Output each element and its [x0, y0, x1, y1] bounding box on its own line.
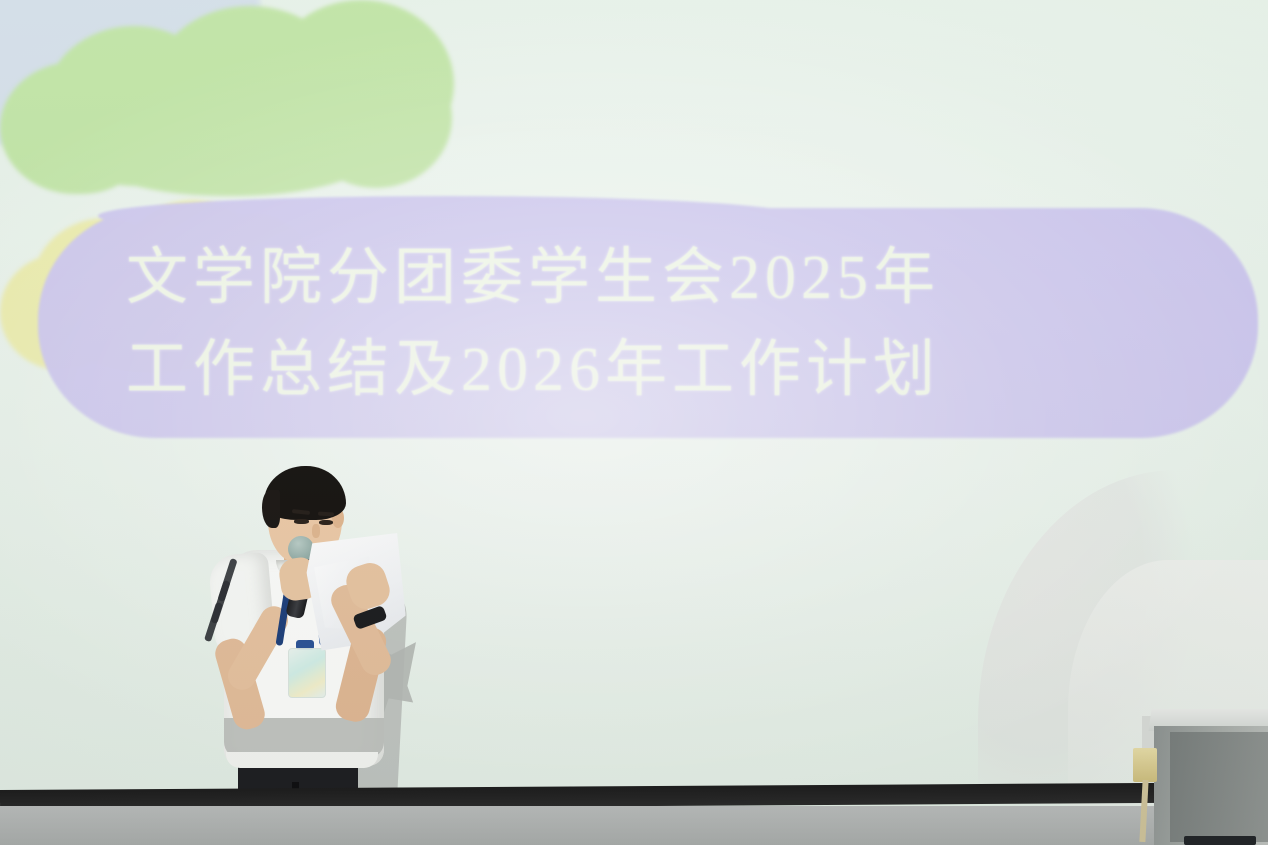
stage-wall [0, 806, 1268, 845]
speaker-eye [294, 519, 309, 524]
speaker-shirt-hem-lower [226, 752, 378, 768]
speaker-hair-sideburn [262, 490, 280, 528]
speaker-nose [312, 524, 320, 538]
lectern-inner-panel [1170, 732, 1268, 842]
lectern-dark-base [1184, 836, 1256, 845]
wooden-block [1133, 748, 1157, 782]
speaker-eye [319, 520, 333, 525]
cloud-green-decoration [0, 0, 452, 190]
id-badge [288, 648, 326, 698]
slide-title: 文学院分团委学生会2025年 工作总结及2026年工作计划 [126, 232, 1186, 416]
screenshot-root: 文学院分团委学生会2025年 工作总结及2026年工作计划 [0, 0, 1268, 845]
slide-title-line-2: 工作总结及2026年工作计划 [126, 324, 1186, 416]
slide-title-line-1: 文学院分团委学生会2025年 [126, 232, 1186, 324]
projection-screen: 文学院分团委学生会2025年 工作总结及2026年工作计划 [0, 0, 1268, 800]
